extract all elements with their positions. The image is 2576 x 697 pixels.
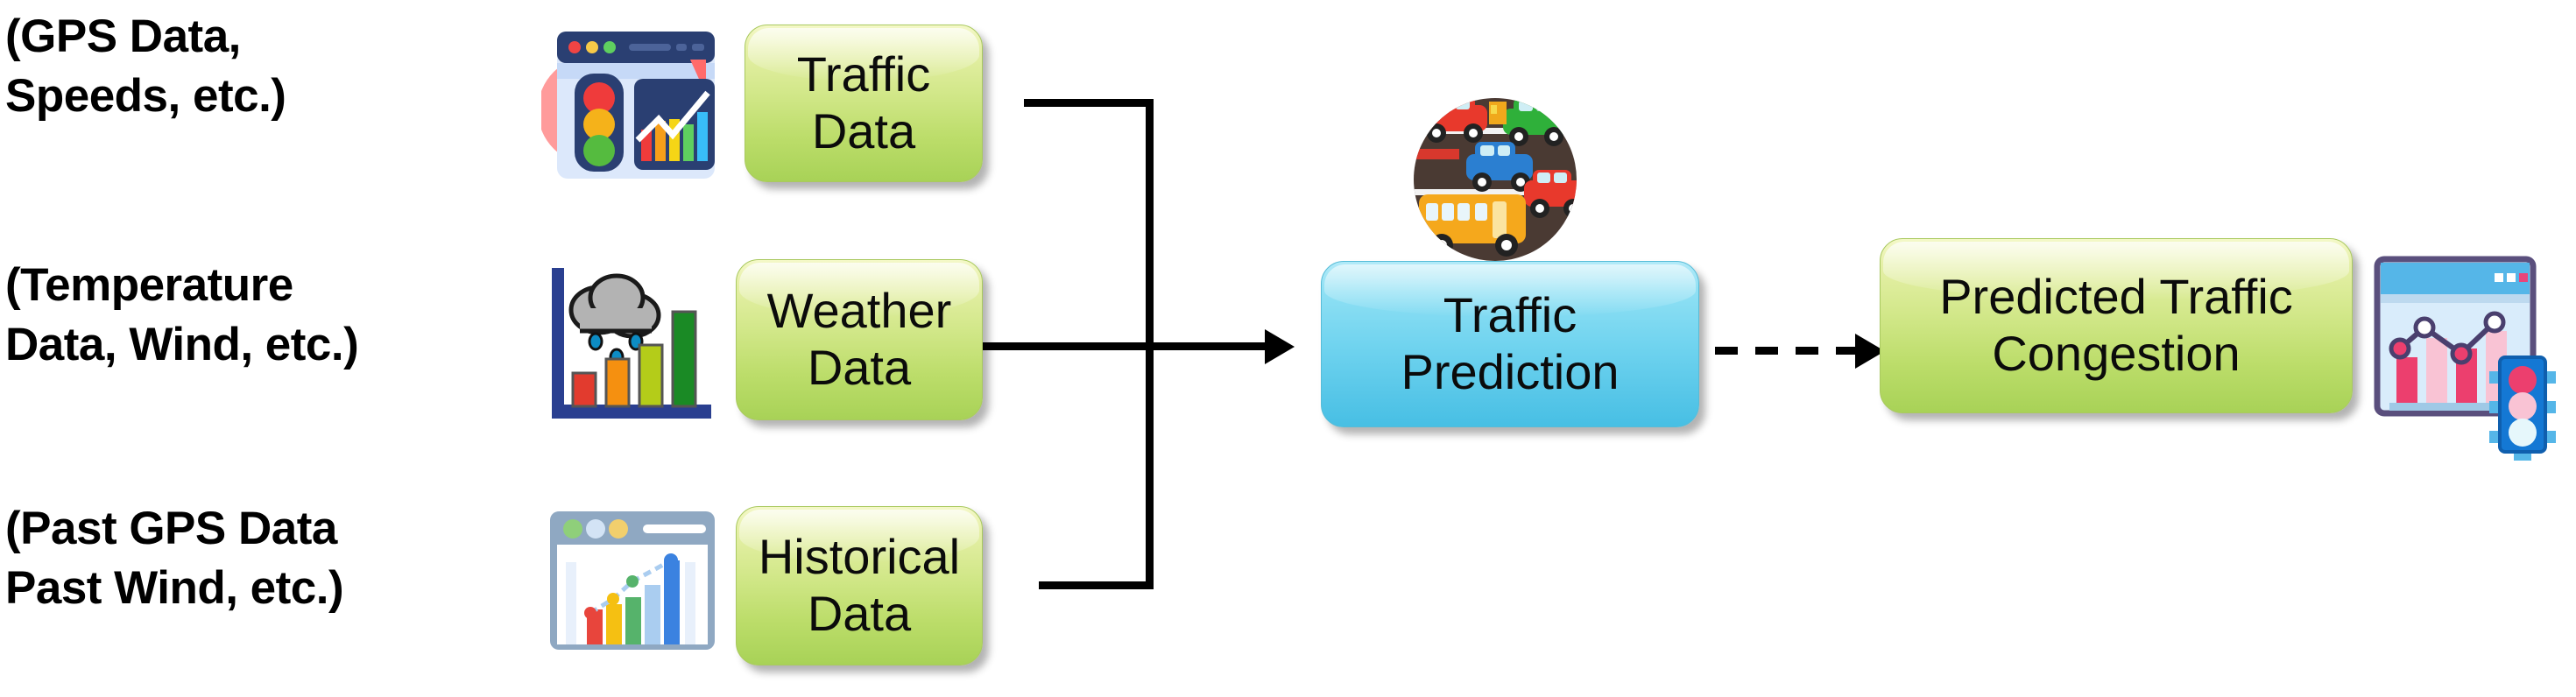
connector-traffic-to-bus bbox=[1024, 99, 1154, 107]
connector-prediction-to-output-dash-2 bbox=[1755, 347, 1778, 355]
node-traffic-prediction-label: Traffic Prediction bbox=[1394, 287, 1626, 401]
caption-past-gps-data: (Past GPS Data Past Wind, etc.) bbox=[5, 499, 343, 618]
node-weather-data-label: Weather Data bbox=[760, 283, 959, 397]
node-predicted-traffic-congestion-label: Predicted Traffic Congestion bbox=[1932, 269, 2300, 383]
caption-temperature-data: (Temperature Data, Wind, etc.) bbox=[5, 256, 358, 375]
congestion-chart-traffic-light-icon bbox=[2370, 250, 2568, 461]
connector-weather-to-bus bbox=[983, 342, 1154, 350]
traffic-dashboard-icon bbox=[541, 7, 725, 195]
node-traffic-prediction[interactable]: Traffic Prediction bbox=[1321, 261, 1699, 427]
diagram-canvas: (GPS Data, Speeds, etc.) (Temperature Da… bbox=[0, 0, 2576, 697]
traffic-jam-cars-icon bbox=[1412, 96, 1578, 263]
historical-bar-chart-icon bbox=[545, 506, 720, 657]
node-traffic-data-label: Traffic Data bbox=[790, 46, 937, 160]
caption-gps-data: (GPS Data, Speeds, etc.) bbox=[5, 7, 286, 126]
node-traffic-data[interactable]: Traffic Data bbox=[745, 25, 983, 182]
connector-historical-to-bus bbox=[1039, 581, 1154, 589]
node-historical-data[interactable]: Historical Data bbox=[736, 506, 983, 665]
connector-prediction-to-output-dash-1 bbox=[1715, 347, 1738, 355]
connector-prediction-to-output-dash-3 bbox=[1796, 347, 1818, 355]
node-predicted-traffic-congestion[interactable]: Predicted Traffic Congestion bbox=[1880, 238, 2353, 413]
node-historical-data-label: Historical Data bbox=[752, 529, 967, 643]
arrowhead-to-prediction bbox=[1265, 329, 1295, 364]
connector-bus-to-prediction bbox=[1146, 342, 1268, 350]
node-weather-data[interactable]: Weather Data bbox=[736, 259, 983, 420]
weather-bar-chart-icon bbox=[545, 261, 720, 429]
